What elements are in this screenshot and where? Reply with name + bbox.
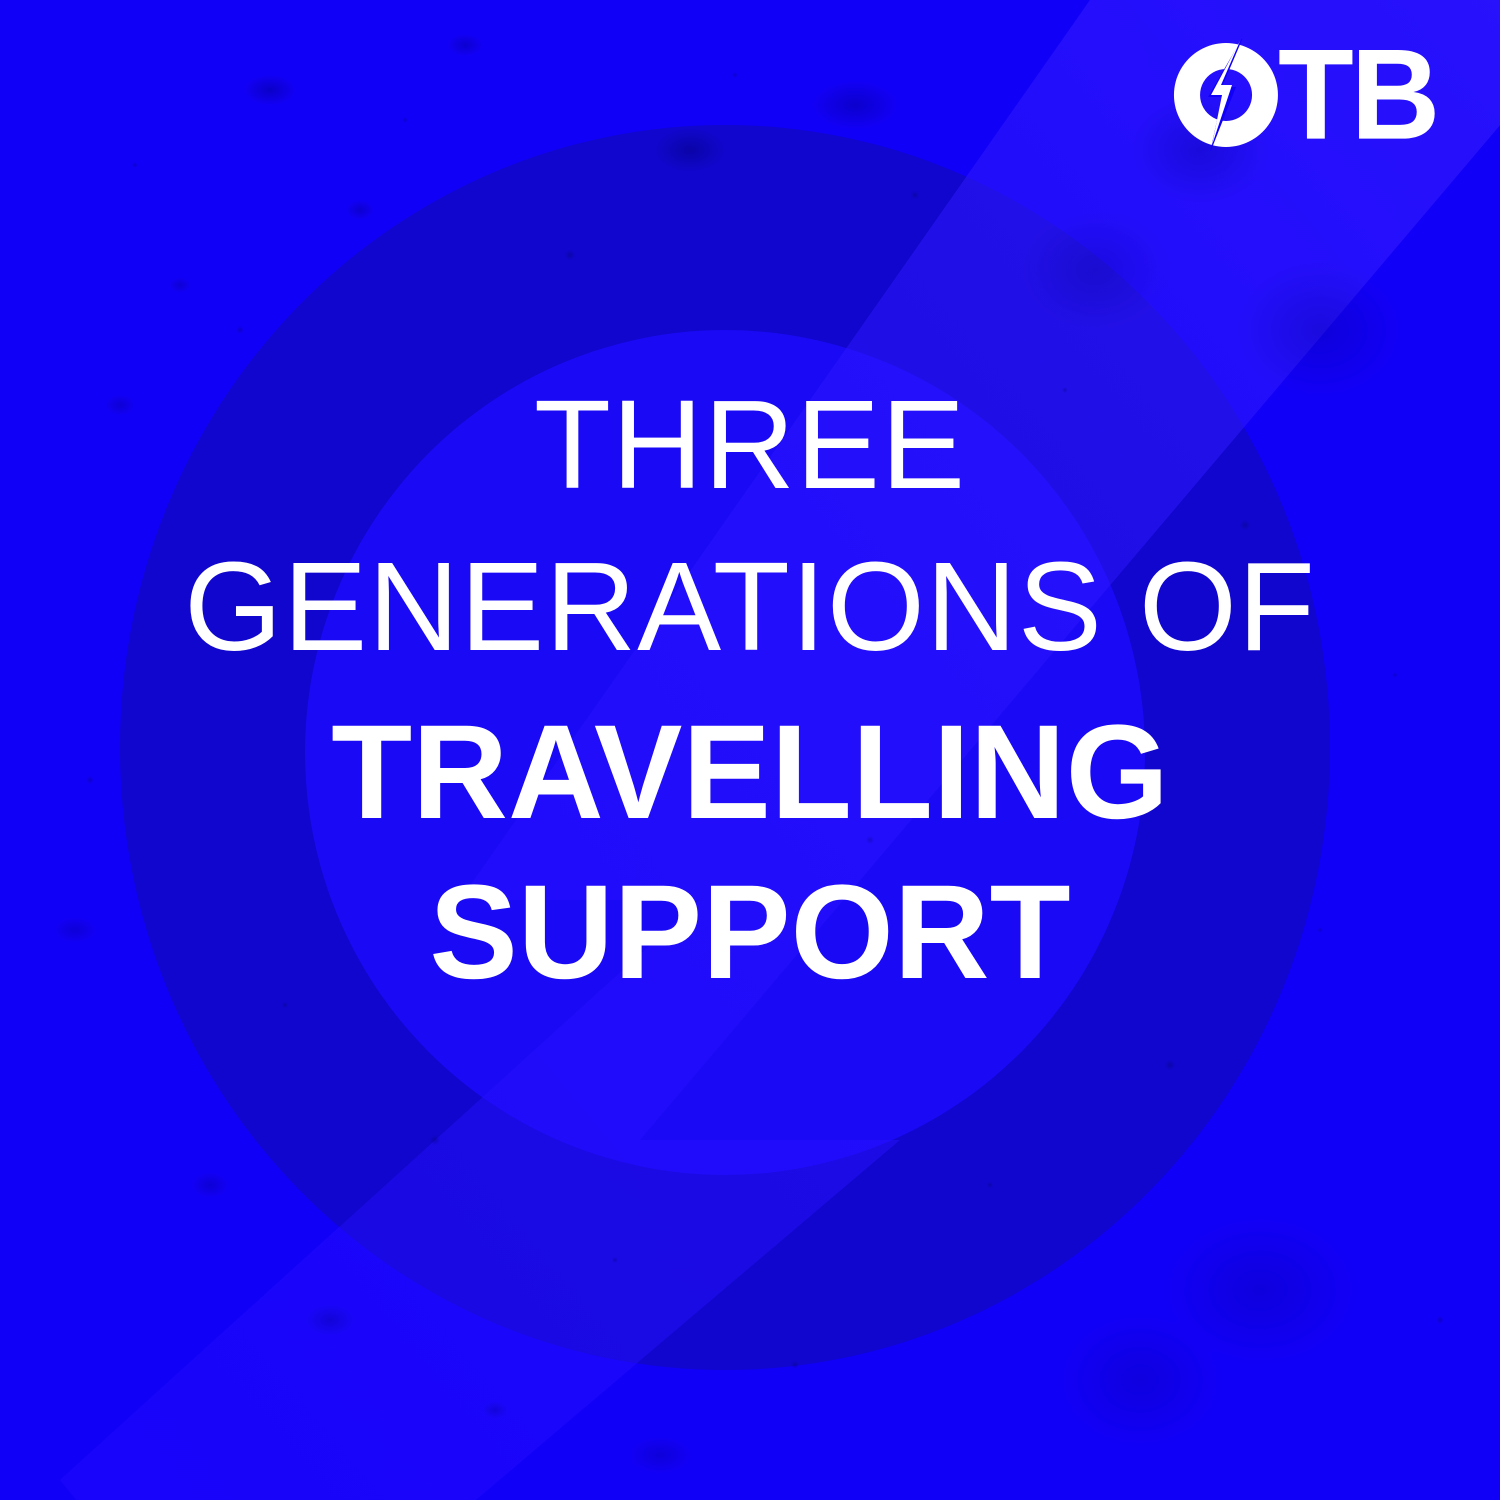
podcast-cover-artwork: TB THREE GENERATIONS OF TRAVELLING SUPPO… bbox=[0, 0, 1500, 1500]
title-line-1: THREE bbox=[0, 382, 1500, 508]
bolt-in-circle-icon bbox=[1170, 39, 1282, 151]
otb-logo[interactable]: TB bbox=[1170, 38, 1437, 152]
otb-wordmark: TB bbox=[1278, 31, 1437, 160]
title-block: THREE GENERATIONS OF TRAVELLING SUPPORT bbox=[0, 382, 1500, 1000]
title-line-4: SUPPORT bbox=[8, 866, 1493, 1000]
title-line-3: TRAVELLING bbox=[8, 706, 1493, 840]
title-line-2: GENERATIONS OF bbox=[0, 544, 1500, 670]
